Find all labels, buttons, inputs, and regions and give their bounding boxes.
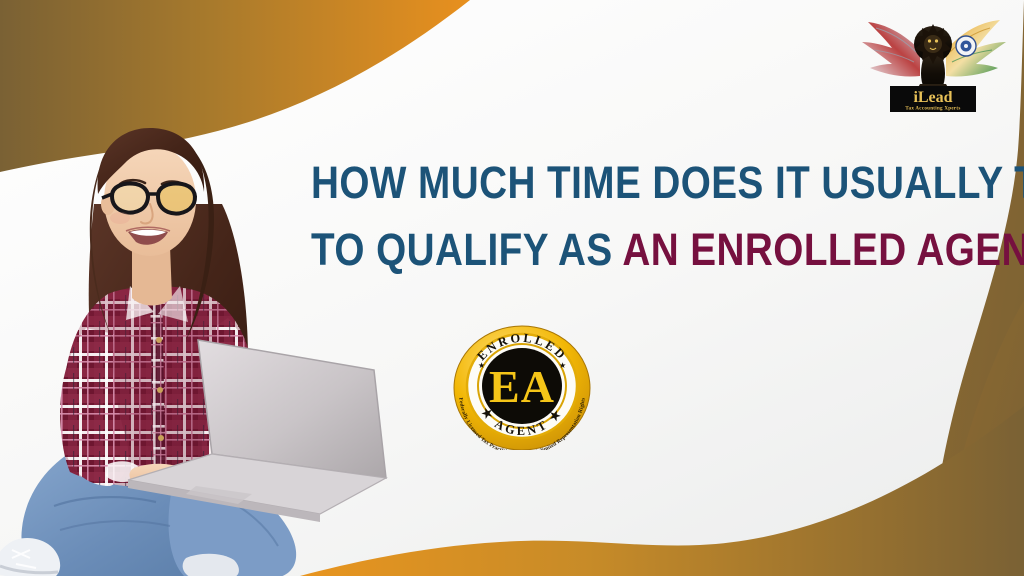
headline-line-2: TO QUALIFY AS AN ENROLLED AGENT? (311, 227, 913, 272)
seal-center-text: EA (489, 361, 555, 412)
headline-line-2-primary: TO QUALIFY AS (311, 224, 622, 275)
logo-wordmark: iLead (913, 89, 952, 106)
logo-tagline: Tax Accounting Xperts (905, 107, 960, 112)
page-title: HOW MUCH TIME DOES IT USUALLY TAKE TO QU… (262, 160, 962, 272)
headline-line-2-accent: AN ENROLLED AGENT? (622, 224, 1024, 275)
wing-left-icon (862, 22, 920, 77)
emblem-badge-icon (956, 36, 976, 56)
enrolled-agent-seal: ENROLLED ★ AGENT ★ Federally Licensed Ta… (437, 318, 607, 450)
seal-star-right: ★ (559, 361, 566, 370)
ilead-logo[interactable]: iLead Tax Accounting Xperts (858, 6, 1008, 116)
logo-nameplate: iLead Tax Accounting Xperts (890, 86, 976, 112)
headline-line-1: HOW MUCH TIME DOES IT USUALLY TAKE (311, 160, 913, 205)
poster-canvas: HOW MUCH TIME DOES IT USUALLY TAKE TO QU… (0, 0, 1024, 576)
seal-star-left: ★ (478, 361, 485, 370)
